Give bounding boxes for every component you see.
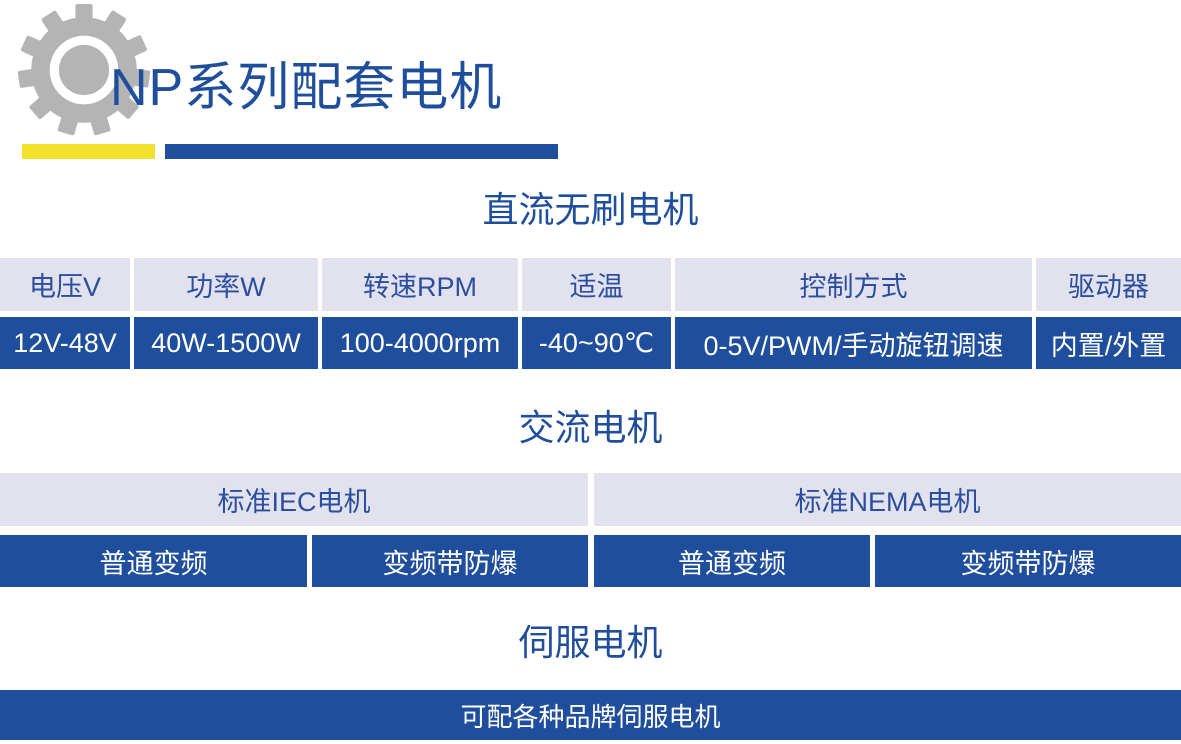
dc-value-cell-control: 0-5V/PWM/手动旋钮调速 (675, 317, 1032, 369)
dc-value-cell-voltage: 12V-48V (0, 317, 130, 369)
dc-value-cell-temp: -40~90℃ (522, 317, 671, 369)
section-title-servo: 伺服电机 (0, 625, 1181, 661)
ac-header-cell-nema: 标准NEMA电机 (594, 473, 1181, 526)
dc-header-cell-control: 控制方式 (675, 258, 1032, 311)
ac-value-cell-nema-exproof: 变频带防爆 (875, 535, 1181, 587)
dc-header-cell-power: 功率W (134, 258, 318, 311)
dc-header-cell-speed: 转速RPM (322, 258, 518, 311)
dc-value-cell-power: 40W-1500W (134, 317, 318, 369)
ac-value-cell-iec-exproof: 变频带防爆 (312, 535, 588, 587)
section-title-dc: 直流无刷电机 (0, 192, 1181, 228)
dc-header-cell-driver: 驱动器 (1036, 258, 1181, 311)
section-title-ac: 交流电机 (0, 410, 1181, 446)
ac-header-cell-iec: 标准IEC电机 (0, 473, 588, 526)
dc-value-cell-driver: 内置/外置 (1036, 317, 1181, 369)
accent-rule-blue (165, 144, 558, 159)
page-title: NP系列配套电机 (110, 62, 502, 114)
dc-header-cell-temp: 适温 (522, 258, 671, 311)
servo-value-bar: 可配各种品牌伺服电机 (0, 690, 1181, 740)
page-header: NP系列配套电机 (0, 0, 1181, 175)
accent-rule-yellow (22, 144, 155, 159)
ac-value-cell-nema-standard: 普通变频 (594, 535, 870, 587)
dc-header-cell-voltage: 电压V (0, 258, 130, 311)
dc-value-cell-speed: 100-4000rpm (322, 317, 518, 369)
ac-value-cell-iec-standard: 普通变频 (0, 535, 307, 587)
